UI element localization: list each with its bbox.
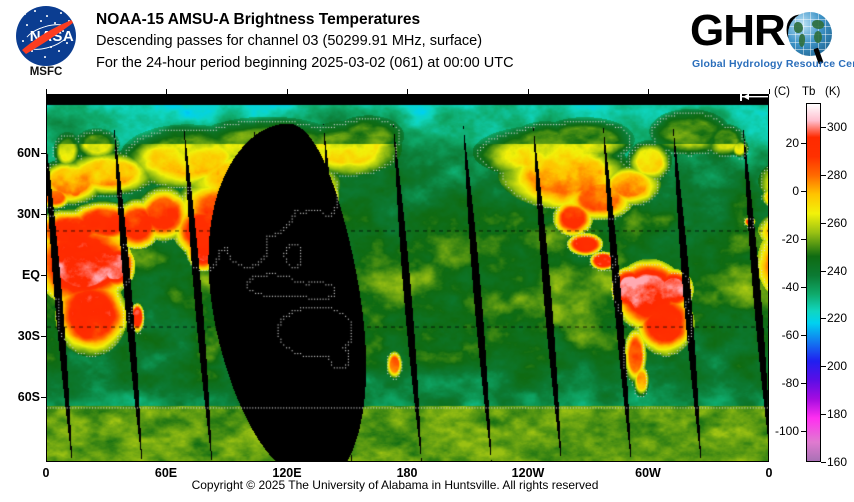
nasa-logo-swoosh — [20, 14, 76, 58]
colorbar-kelvin-label-220: 220 — [827, 311, 847, 325]
colorbar-kelvin-label-280: 280 — [827, 168, 847, 182]
copyright-notice: Copyright © 2025 The University of Alaba… — [0, 478, 790, 492]
colorbar-kelvin-label-180: 180 — [827, 407, 847, 421]
colorbar-variable-label: Tb — [802, 86, 815, 98]
brightness-temperature-map[interactable] — [46, 94, 769, 462]
ytick-mark-60n — [41, 153, 46, 154]
ytick-label-30s: 30S — [0, 329, 40, 343]
colorbar-celsius-label--100: -100 — [763, 424, 799, 438]
ytick-mark-30s — [41, 336, 46, 337]
colorbar-kelvin-tick-160 — [821, 462, 826, 463]
colorbar-celsius-label--60: -60 — [763, 328, 799, 342]
title-block: NOAA-15 AMSU-A Brightness Temperatures D… — [96, 9, 696, 74]
nasa-center-label: MSFC — [10, 66, 82, 78]
xtick-mark-0-left — [46, 89, 47, 94]
colorbar-celsius-tick--60 — [801, 335, 806, 336]
xtick-mark-120e — [287, 89, 288, 94]
nasa-logo: NASA MSFC — [10, 6, 82, 78]
colorbar-celsius-label--80: -80 — [763, 376, 799, 390]
colorbar-kelvin-tick-180 — [821, 414, 826, 415]
xtick-mark-60e — [166, 89, 167, 94]
ytick-mark-eq — [41, 275, 46, 276]
xtick-mark-120w — [528, 89, 529, 94]
colorbar-kelvin-label-240: 240 — [827, 264, 847, 278]
ghrc-logo: GHRC Global Hydrology Resource Center — [690, 8, 840, 78]
colorbar-kelvin-tick-300 — [821, 127, 826, 128]
colorbar-celsius-tick-0 — [801, 191, 806, 192]
ytick-label-eq: EQ — [0, 268, 40, 282]
colorbar-celsius-label-20: 20 — [763, 136, 799, 150]
colorbar-kelvin-tick-220 — [821, 318, 826, 319]
colorbar-celsius-label--20: -20 — [763, 232, 799, 246]
colorbar-celsius-label-0: 0 — [763, 184, 799, 198]
colorbar-celsius-tick--40 — [801, 287, 806, 288]
ytick-mark-60s — [41, 397, 46, 398]
ytick-label-60s: 60S — [0, 390, 40, 404]
ghrc-globe-icon — [788, 12, 832, 56]
colorbar-unit-celsius: (C) — [774, 86, 790, 98]
colorbar-kelvin-label-200: 200 — [827, 359, 847, 373]
page-header: NASA MSFC NOAA-15 AMSU-A Brightness Temp… — [0, 0, 854, 92]
xtick-mark-0-right — [769, 89, 770, 94]
colorbar-celsius-tick--20 — [801, 239, 806, 240]
scan-direction-marker — [740, 92, 768, 101]
page-subtitle-channel: Descending passes for channel 03 (50299.… — [96, 30, 696, 52]
page-title: NOAA-15 AMSU-A Brightness Temperatures — [96, 9, 696, 30]
colorbar-kelvin-tick-260 — [821, 223, 826, 224]
colorbar-kelvin-tick-240 — [821, 271, 826, 272]
nasa-logo-ball: NASA — [16, 6, 76, 66]
ytick-mark-30n — [41, 214, 46, 215]
ytick-label-60n: 60N — [0, 146, 40, 160]
colorbar-kelvin-label-300: 300 — [827, 120, 847, 134]
colorbar-kelvin-label-260: 260 — [827, 216, 847, 230]
colorbar-celsius-tick--80 — [801, 383, 806, 384]
map-raster — [47, 95, 769, 462]
page-subtitle-period: For the 24-hour period beginning 2025-03… — [96, 52, 696, 74]
colorbar-unit-kelvin: (K) — [825, 86, 840, 98]
colorbar — [806, 103, 821, 462]
ghrc-tagline: Global Hydrology Resource Center — [692, 58, 854, 70]
colorbar-kelvin-tick-200 — [821, 366, 826, 367]
ytick-label-30n: 30N — [0, 207, 40, 221]
colorbar-kelvin-tick-280 — [821, 175, 826, 176]
colorbar-celsius-label--40: -40 — [763, 280, 799, 294]
xtick-mark-180 — [407, 89, 408, 94]
colorbar-gradient — [807, 104, 820, 461]
xtick-mark-60w — [648, 89, 649, 94]
colorbar-celsius-tick-20 — [801, 143, 806, 144]
colorbar-kelvin-label-160: 160 — [827, 455, 847, 469]
colorbar-celsius-tick--100 — [801, 431, 806, 432]
